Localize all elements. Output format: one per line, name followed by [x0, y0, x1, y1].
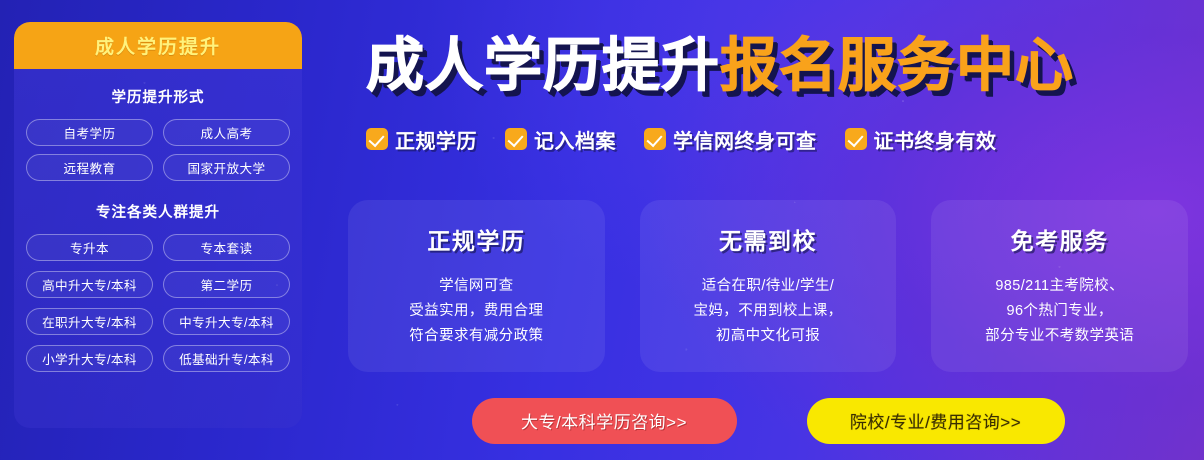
feature-card-title: 正规学历	[427, 222, 525, 256]
feature-card-title: 无需到校	[719, 222, 817, 256]
feature-card-list: 正规学历 学信网可查 受益实用，费用合理 符合要求有减分政策 无需到校 适合在职…	[348, 200, 1188, 372]
sidebar-pill-zhuanbentaodu[interactable]: 专本套读	[163, 234, 290, 261]
feature-card-line: 部分专业不考数学英语	[985, 324, 1134, 349]
feature-card-line: 初高中文化可报	[694, 324, 843, 349]
feature-card-title: 免考服务	[1011, 222, 1109, 256]
feature-card-line: 985/211主考院校、	[985, 274, 1134, 299]
cta-row: 大专/本科学历咨询>> 院校/专业/费用咨询>>	[348, 397, 1188, 444]
check-icon	[644, 128, 666, 150]
feature-card-line: 宝妈，不用到校上课，	[694, 299, 843, 324]
sidebar-pill-grid-groups: 专升本 专本套读 高中升大专/本科 第二学历 在职升大专/本科 中专升大专/本科…	[14, 234, 302, 372]
sidebar-pill-chengkao[interactable]: 成人高考	[163, 119, 290, 146]
sidebar-pill-yuancheng[interactable]: 远程教育	[26, 154, 153, 181]
cta-degree-consult-button[interactable]: 大专/本科学历咨询>>	[472, 398, 737, 444]
sidebar-pill-zaizhi[interactable]: 在职升大专/本科	[26, 308, 153, 335]
check-icon	[845, 128, 867, 150]
sidebar-pill-dijichu[interactable]: 低基础升专/本科	[163, 345, 290, 372]
sidebar-header: 成人学历提升	[14, 22, 302, 69]
check-icon	[366, 128, 388, 150]
promo-banner: 成人学历提升 学历提升形式 自考学历 成人高考 远程教育 国家开放大学 专注各类…	[0, 0, 1204, 460]
sidebar-pill-zikao[interactable]: 自考学历	[26, 119, 153, 146]
feature-card-body: 985/211主考院校、 96个热门专业， 部分专业不考数学英语	[985, 274, 1134, 349]
feature-card-line: 符合要求有减分政策	[409, 324, 543, 349]
sidebar-pill-grid-forms: 自考学历 成人高考 远程教育 国家开放大学	[14, 119, 302, 181]
cta-school-fee-consult-button[interactable]: 院校/专业/费用咨询>>	[807, 398, 1065, 444]
feature-card-body: 适合在职/待业/学生/ 宝妈，不用到校上课， 初高中文化可报	[694, 274, 843, 349]
feature-card-line: 适合在职/待业/学生/	[694, 274, 843, 299]
headline-part-primary: 成人学历提升	[366, 18, 720, 102]
sidebar-panel: 成人学历提升 学历提升形式 自考学历 成人高考 远程教育 国家开放大学 专注各类…	[14, 22, 302, 428]
sidebar-pill-gaozhong[interactable]: 高中升大专/本科	[26, 271, 153, 298]
feature-item: 正规学历	[366, 125, 477, 154]
headline: 成人学历提升报名服务中心	[366, 22, 1186, 98]
check-icon	[505, 128, 527, 150]
feature-item: 学信网终身可查	[644, 125, 817, 154]
feature-card-zhengguixueli: 正规学历 学信网可查 受益实用，费用合理 符合要求有减分政策	[348, 200, 605, 372]
feature-card-miankaofuwu: 免考服务 985/211主考院校、 96个热门专业， 部分专业不考数学英语	[931, 200, 1188, 372]
sidebar-pill-guokai[interactable]: 国家开放大学	[163, 154, 290, 181]
sidebar-header-title: 成人学历提升	[95, 32, 221, 59]
sidebar-section-title-forms: 学历提升形式	[14, 86, 302, 107]
sidebar-section-title-groups: 专注各类人群提升	[14, 201, 302, 222]
feature-item: 记入档案	[505, 125, 616, 154]
feature-card-line: 学信网可查	[409, 274, 543, 299]
headline-part-accent: 报名服务中心	[720, 18, 1074, 102]
feature-label: 学信网终身可查	[673, 125, 817, 154]
feature-card-line: 受益实用，费用合理	[409, 299, 543, 324]
feature-label: 记入档案	[534, 125, 616, 154]
sidebar-pill-zhongzhuan[interactable]: 中专升大专/本科	[163, 308, 290, 335]
sidebar-pill-dierxueli[interactable]: 第二学历	[163, 271, 290, 298]
feature-list: 正规学历 记入档案 学信网终身可查 证书终身有效	[366, 122, 1186, 156]
feature-item: 证书终身有效	[845, 125, 997, 154]
feature-card-wuxudaoxiao: 无需到校 适合在职/待业/学生/ 宝妈，不用到校上课， 初高中文化可报	[640, 200, 897, 372]
sidebar-pill-xiaoxue[interactable]: 小学升大专/本科	[26, 345, 153, 372]
feature-label: 证书终身有效	[874, 125, 997, 154]
feature-label: 正规学历	[395, 125, 477, 154]
feature-card-body: 学信网可查 受益实用，费用合理 符合要求有减分政策	[409, 274, 543, 349]
feature-card-line: 96个热门专业，	[985, 299, 1134, 324]
sidebar-pill-zhuanshengben[interactable]: 专升本	[26, 234, 153, 261]
